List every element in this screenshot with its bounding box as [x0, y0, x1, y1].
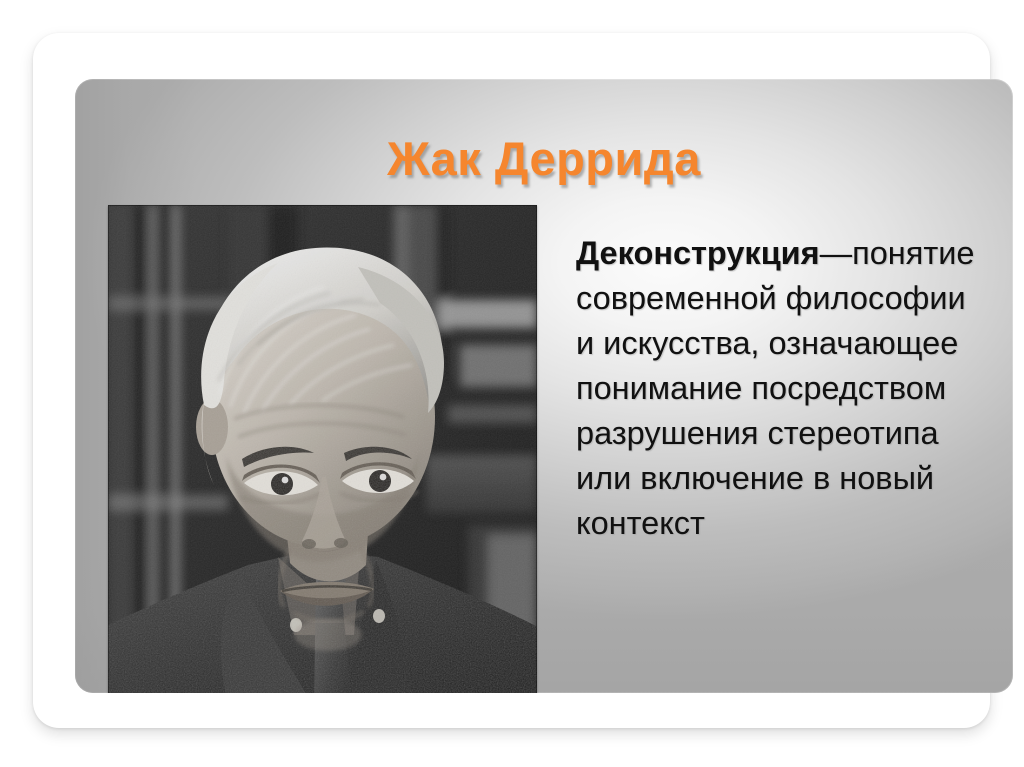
definition-body: понятие современной философии и искусств… — [576, 235, 974, 541]
portrait-image — [108, 205, 537, 693]
slide-card: Жак Деррида — [33, 33, 990, 728]
term-deconstruction: Деконструкция — [576, 235, 820, 271]
slide-canvas: Жак Деррида — [75, 79, 1013, 693]
portrait-photo — [108, 205, 537, 693]
em-dash: — — [820, 235, 853, 271]
definition-text: Деконструкция—понятие современной филосо… — [576, 231, 988, 546]
slide-title: Жак Деррида — [75, 131, 1013, 186]
